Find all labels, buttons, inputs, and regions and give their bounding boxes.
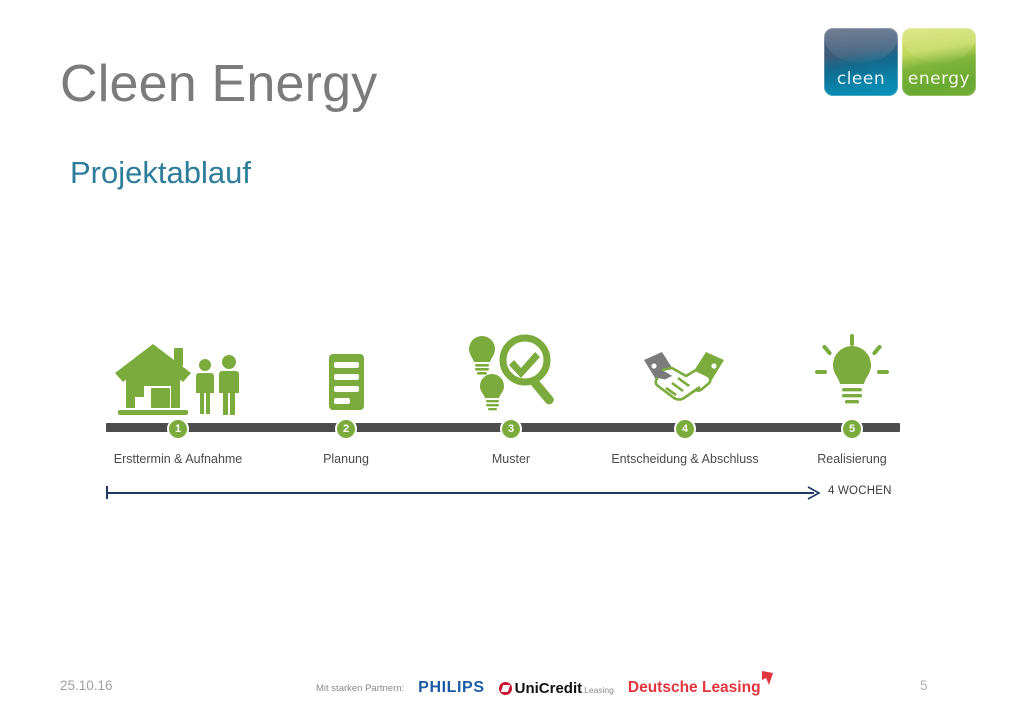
deutsche-leasing-logo: Deutsche Leasing	[628, 679, 761, 697]
partners-label: Mit starken Partnern:	[316, 683, 404, 694]
cleen-energy-logo: cleen energy	[824, 28, 979, 96]
timeline-marker-1[interactable]: 1	[167, 418, 189, 440]
arrow-right-icon	[806, 485, 822, 501]
timeline-marker-5[interactable]: 5	[841, 418, 863, 440]
document-icon	[261, 330, 431, 418]
partners-bar: Mit starken Partnern: PHILIPS UniCredit …	[316, 676, 761, 700]
timeline-marker-2[interactable]: 2	[335, 418, 357, 440]
slide-page-number: 5	[920, 678, 928, 693]
duration-line	[106, 492, 814, 494]
duration-indicator: 4 WOCHEN	[106, 485, 900, 505]
timeline-step-3[interactable]: 3 Muster	[426, 330, 596, 505]
shining-bulb-icon	[767, 330, 937, 418]
logo-word-energy: energy	[902, 69, 976, 89]
presentation-slide: Cleen Energy Projektablauf cleen energy	[0, 0, 1024, 721]
unicredit-name: UniCredit	[515, 680, 583, 697]
page-subtitle: Projektablauf	[70, 155, 251, 191]
philips-logo: PHILIPS	[418, 679, 484, 697]
timeline-marker-4[interactable]: 4	[674, 418, 696, 440]
timeline-marker-3[interactable]: 3	[500, 418, 522, 440]
timeline-step-2[interactable]: 2 Planung	[261, 330, 431, 505]
timeline-step-1[interactable]: 1 Ersttermin & Aufnahme	[93, 330, 263, 505]
project-timeline: 1 Ersttermin & Aufnahme 2 Planung	[106, 330, 900, 505]
deutsche-leasing-flag-icon	[762, 671, 773, 685]
unicredit-logo: UniCredit Leasing	[499, 680, 614, 697]
page-title: Cleen Energy	[60, 54, 377, 114]
unicredit-mark-icon	[499, 682, 512, 695]
logo-gloss	[902, 28, 976, 63]
slide-date: 25.10.16	[60, 678, 113, 693]
handshake-icon	[600, 330, 770, 418]
deutsche-leasing-name: Deutsche Leasing	[628, 679, 761, 696]
duration-label: 4 WOCHEN	[828, 485, 892, 497]
house-people-icon	[93, 330, 263, 418]
timeline-label-5: Realisierung	[747, 452, 957, 466]
logo-tile-energy: energy	[902, 28, 976, 96]
bulbs-magnifier-check-icon	[426, 330, 596, 418]
timeline-step-5[interactable]: 5 Realisierung	[767, 330, 937, 505]
logo-gloss	[824, 28, 898, 63]
logo-tile-cleen: cleen	[824, 28, 898, 96]
timeline-step-4[interactable]: 4 Entscheidung & Abschluss	[600, 330, 770, 505]
logo-word-cleen: cleen	[824, 69, 898, 89]
unicredit-suffix: Leasing	[584, 685, 614, 695]
